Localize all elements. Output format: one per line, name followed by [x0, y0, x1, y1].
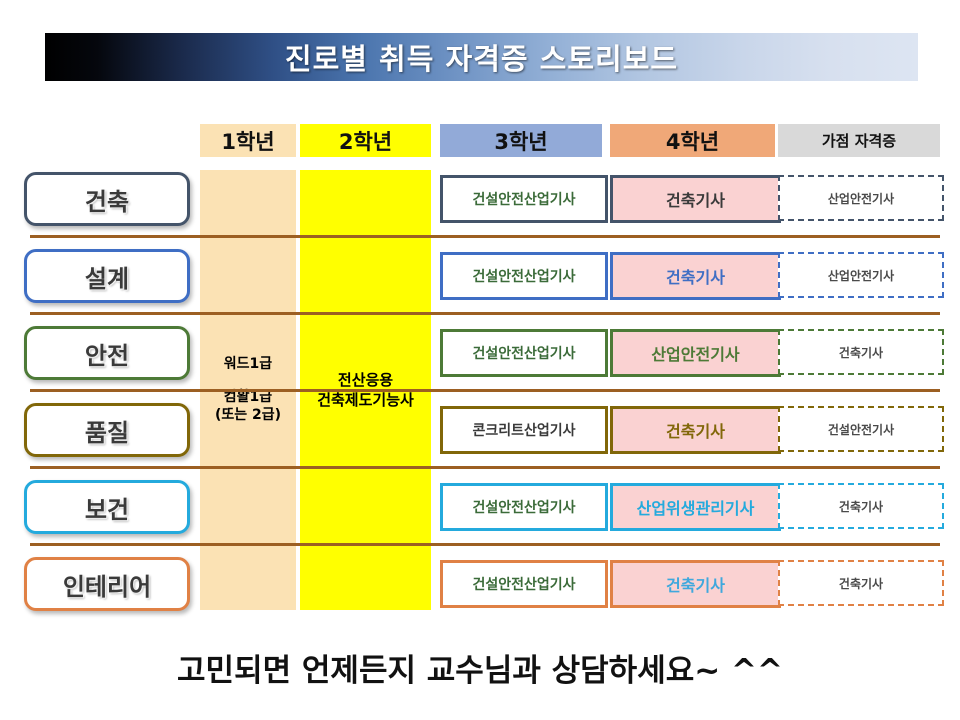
- title-banner: 진로별 취득 자격증 스토리보드: [45, 33, 918, 81]
- cert-label: 건축기사: [839, 498, 883, 515]
- cert-cell-bonus-row1[interactable]: 산업안전기사: [778, 175, 944, 221]
- row-separator-3: [30, 389, 940, 392]
- column-header-year4: 4학년: [610, 124, 775, 157]
- row-separator-2: [30, 312, 940, 315]
- cert-cell-bonus-row5[interactable]: 건축기사: [778, 483, 944, 529]
- cert-cell-year4-row4[interactable]: 건축기사: [610, 406, 781, 454]
- page-title: 진로별 취득 자격증 스토리보드: [285, 36, 678, 78]
- cert-label: 건축기사: [839, 575, 883, 592]
- cert-cell-year4-row5[interactable]: 산업위생관리기사: [610, 483, 781, 531]
- row-separator-4: [30, 466, 940, 469]
- cert-label: 산업안전기사: [651, 341, 739, 365]
- cert-label: 콘크리트산업기사: [472, 420, 575, 440]
- column-header-year1: 1학년: [200, 124, 296, 157]
- column-header-year2: 2학년: [300, 124, 431, 157]
- cert-label: 산업위생관리기사: [637, 495, 755, 519]
- row-label-text: 설계: [85, 259, 129, 294]
- row-label-4[interactable]: 품질: [24, 403, 190, 457]
- column-header-bonus-certificate: 가점 자격증: [778, 124, 940, 157]
- cert-label: 건설안전산업기사: [472, 266, 575, 286]
- cert-label: 건설안전산업기사: [472, 497, 575, 517]
- year1-cert-comphwal-line2: (또는 2급): [215, 407, 281, 423]
- cert-cell-bonus-row4[interactable]: 건설안전기사: [778, 406, 944, 452]
- cert-cell-year4-row1[interactable]: 건축기사: [610, 175, 781, 223]
- cert-label: 건설안전산업기사: [472, 343, 575, 363]
- cert-label: 산업안전기사: [828, 190, 894, 207]
- row-label-text: 품질: [85, 413, 129, 448]
- year1-cert-word1: 워드1급: [224, 355, 272, 374]
- cert-label: 건축기사: [666, 187, 725, 211]
- cert-cell-bonus-row6[interactable]: 건축기사: [778, 560, 944, 606]
- cert-cell-year3-row5[interactable]: 건설안전산업기사: [440, 483, 608, 531]
- row-label-1[interactable]: 건축: [24, 172, 190, 226]
- row-label-text: 보건: [85, 490, 129, 525]
- footer-note: 고민되면 언제든지 교수님과 상담하세요~ ^^: [0, 645, 960, 690]
- row-label-text: 인테리어: [63, 567, 151, 602]
- year2-cert-line1: 전산응용: [338, 371, 393, 389]
- row-label-3[interactable]: 안전: [24, 326, 190, 380]
- year1-cert-comphwal: 컴활1급 (또는 2급): [215, 388, 281, 426]
- cert-cell-year4-row6[interactable]: 건축기사: [610, 560, 781, 608]
- cert-cell-year3-row3[interactable]: 건설안전산업기사: [440, 329, 608, 377]
- cert-label: 건축기사: [666, 264, 725, 288]
- cert-cell-year3-row1[interactable]: 건설안전산업기사: [440, 175, 608, 223]
- cert-cell-bonus-row2[interactable]: 산업안전기사: [778, 252, 944, 298]
- cert-cell-year3-row4[interactable]: 콘크리트산업기사: [440, 406, 608, 454]
- row-separator-5: [30, 543, 940, 546]
- row-separator-1: [30, 235, 940, 238]
- row-label-6[interactable]: 인테리어: [24, 557, 190, 611]
- cert-label: 산업안전기사: [828, 267, 894, 284]
- cert-cell-year3-row6[interactable]: 건설안전산업기사: [440, 560, 608, 608]
- cert-label: 건설안전기사: [828, 421, 894, 438]
- cert-label: 건축기사: [839, 344, 883, 361]
- cert-label: 건축기사: [666, 418, 725, 442]
- column-header-year3: 3학년: [440, 124, 602, 157]
- cert-cell-year4-row3[interactable]: 산업안전기사: [610, 329, 781, 377]
- cert-label: 건설안전산업기사: [472, 574, 575, 594]
- row-label-2[interactable]: 설계: [24, 249, 190, 303]
- cert-label: 건축기사: [666, 572, 725, 596]
- row-label-5[interactable]: 보건: [24, 480, 190, 534]
- cert-label: 건설안전산업기사: [472, 189, 575, 209]
- cert-cell-bonus-row3[interactable]: 건축기사: [778, 329, 944, 375]
- row-label-text: 안전: [85, 336, 129, 371]
- cert-cell-year3-row2[interactable]: 건설안전산업기사: [440, 252, 608, 300]
- cert-cell-year4-row2[interactable]: 건축기사: [610, 252, 781, 300]
- row-label-text: 건축: [85, 182, 129, 217]
- year2-cert-line2: 건축제도기능사: [317, 391, 414, 409]
